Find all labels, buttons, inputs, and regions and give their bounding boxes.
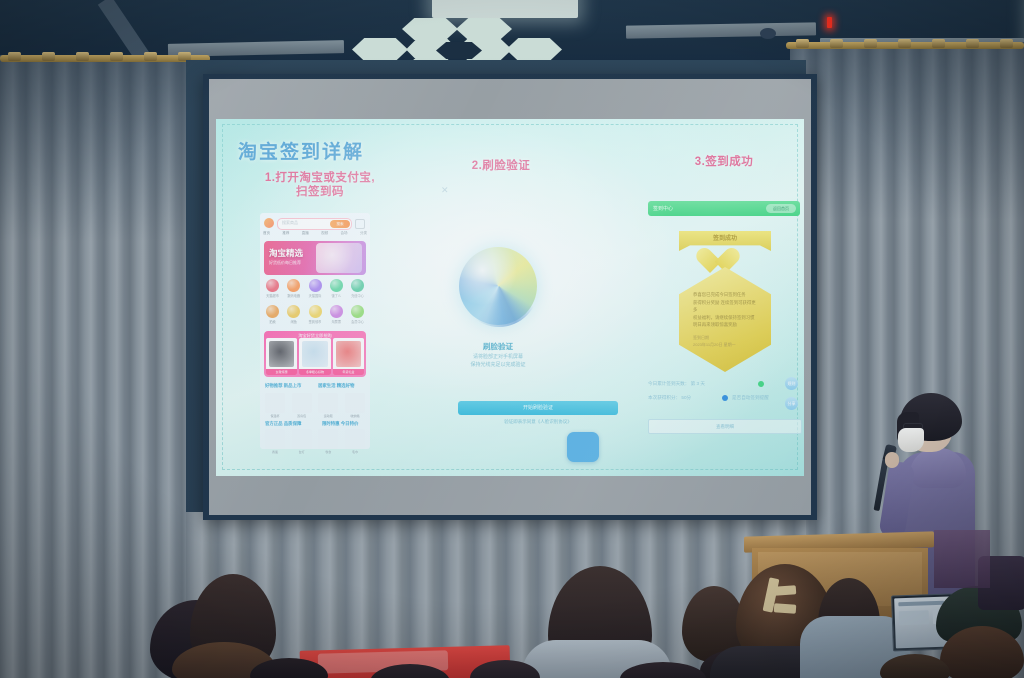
app-product-row-1: 保温杯双肩包运动鞋收纳箱 [264,393,366,418]
app-icon-cell[interactable]: 会员中心 [349,305,366,324]
ceiling-light-panel [432,0,578,18]
app-product-label: 毛巾 [344,450,366,454]
success-app-bar-label: 签到中心 [653,205,673,212]
projection-screen-surface: 淘宝签到详解 1.打开淘宝或支付宝, 扫签到码 搜索商品 搜索 [209,79,811,515]
pink-card-item-caption: 女靴特惠 [266,369,297,375]
pink-card-item[interactable]: 冬季暖心好物 [299,338,330,375]
pink-card-item-image [269,341,294,367]
app-icon-label: 天猫超市 [264,293,281,298]
app-search-input[interactable]: 搜索商品 搜索 [277,218,352,230]
app-icon-label: 会员中心 [349,319,366,324]
lecture-hall-photo: 淘宝签到详解 1.打开淘宝或支付宝, 扫签到码 搜索商品 搜索 [0,0,1024,678]
presenter-hood [910,448,966,488]
step-1-heading-text: 1.打开淘宝或支付宝, 扫签到码 [265,172,375,198]
pink-card-item-image [336,341,361,367]
slide-title: 淘宝签到详解 [238,137,364,164]
app-nav-item[interactable]: 视频 [321,231,328,238]
app-icon-row-2: 拍卖闲鱼签到领币淘票票会员中心 [264,305,366,324]
curtain-grommet [932,39,945,48]
face-verify-sub-2: 保持光线充足以完成验证 [423,361,573,369]
success-status-dot-1 [758,381,764,387]
curtain-grommet [76,52,89,61]
app-icon-label: 充值中心 [349,293,366,298]
step-2-heading-text: 2.刷脸验证 [472,160,531,172]
app-icon-label: 淘票票 [328,319,345,324]
app-section-head-1: 好物推荐 新品上市 [265,383,301,389]
app-product[interactable]: 台灯 [291,429,313,454]
app-product-label: 香薰 [264,450,286,454]
step-1-heading: 1.打开淘宝或支付宝, 扫签到码 [240,171,400,200]
audience-purple-shape [934,530,990,588]
app-product-image [345,393,365,413]
app-product-image [345,429,365,449]
success-detail-field[interactable]: 查看明细 [648,419,802,434]
ceiling-rail-right [626,22,816,38]
success-line-1: 今日累计签到天数： 第 3 天 [648,381,705,387]
success-app-bar-action-label: 返回首页 [766,204,796,213]
face-mask-icon [898,428,924,452]
step-3-heading-text: 3.签到成功 [695,156,754,168]
app-icon [287,305,300,318]
app-icon [330,305,343,318]
laptop-ui-line [898,601,944,607]
app-icon-cell[interactable]: 天猫国际 [307,279,324,298]
ceiling-petal [456,18,512,40]
app-icon [351,305,364,318]
app-section-head-3: 官方正品 品质保障 [265,421,301,427]
red-led-indicator-icon [827,17,832,28]
pink-card-item[interactable]: 年货礼盒 [333,338,364,375]
face-verify-subtitle: 请将脸部正对手机屏幕 保持光线充足以完成验证 [423,353,573,369]
app-search-row: 搜索商品 搜索 [264,217,366,229]
banner-title: 淘宝精选 [269,247,303,259]
curtain-grommet [110,52,123,61]
success-line-2: 本次获得积分： 50分 [648,395,691,401]
success-share-label: 分享 [785,397,798,410]
app-section-head-2: 居家生活 精选好物 [318,383,354,389]
curtain-grommet [42,52,55,61]
curtain-grommet [864,39,877,48]
app-icon [266,279,279,292]
app-icon-label: 数码电器 [285,293,302,298]
app-nav-item[interactable]: 分类 [360,231,367,238]
success-detail-label: 查看明细 [649,420,801,433]
app-pink-card[interactable]: 淘宝好货立即抢购 女靴特惠冬季暖心好物年货礼盒 [264,331,366,377]
app-icon-label: 签到领币 [307,319,324,324]
success-radio-selected[interactable] [722,395,728,401]
curtain-grommet [830,39,843,48]
app-product-row-2: 香薰台灯零食毛巾 [264,429,366,454]
app-nav-item[interactable]: 会场 [341,231,348,238]
success-badge-signature: 签到日期 2023年11月20日 星期一 [693,335,757,348]
step-2-heading: 2.刷脸验证 [426,159,576,173]
app-icon-label: 饿了么 [328,293,345,298]
app-product-label: 运动鞋 [317,414,339,418]
app-icon [309,279,322,292]
app-search-button-label: 搜索 [330,220,350,228]
curtain-grommet [966,39,979,48]
app-icon [309,305,322,318]
banner-subtitle: 好货低价每日推荐 [269,260,301,266]
app-product[interactable]: 双肩包 [291,393,313,418]
curtain-grommet [8,52,21,61]
app-product-label: 双肩包 [291,414,313,418]
app-icon-cell[interactable]: 数码电器 [285,279,302,298]
app-search-placeholder: 搜索商品 [282,220,298,226]
curtain-grommet [144,52,157,61]
curtain-left [0,55,206,678]
hair-clip-icon [774,603,797,614]
app-icon-row-1: 天猫超市数码电器天猫国际饿了么充值中心 [264,279,366,298]
projection-screen: 淘宝签到详解 1.打开淘宝或支付宝, 扫签到码 搜索商品 搜索 [203,74,817,520]
app-icon-cell[interactable]: 淘票票 [328,305,345,324]
success-share-button[interactable]: 分享 [785,397,798,410]
success-rule-button[interactable]: 规则 [785,377,798,390]
step-3-heading: 3.签到成功 [648,155,800,169]
curtain-grommet [898,39,911,48]
taobao-app-mockup: 搜索商品 搜索 首页推荐直播视频会场分类 淘宝精选 好货低价每日推荐 [260,213,370,449]
ceiling-sensor-icon [760,28,776,39]
face-verify-note: 验证即表示同意《人脸识别协议》 [458,419,618,425]
app-product[interactable]: 收纳箱 [344,393,366,418]
app-product-image [265,393,285,413]
app-product-image [318,393,338,413]
app-search-button[interactable]: 搜索 [330,220,350,228]
app-icon-cell[interactable]: 天猫超市 [264,279,281,298]
app-icon-label: 拍卖 [264,319,281,324]
start-face-verify-button[interactable]: 开始刷脸验证 [458,401,618,415]
pink-card-item-image [302,341,327,367]
app-icon [330,279,343,292]
app-product-image [292,429,312,449]
face-scan-globe-band-icon [459,245,539,327]
pink-card-items: 女靴特惠冬季暖心好物年货礼盒 [266,338,364,375]
app-product-image [292,393,312,413]
success-app-bar-action[interactable]: 返回首页 [766,204,796,213]
app-icon-cell[interactable]: 签到领币 [307,305,324,324]
face-verify-sub-1: 请将脸部正对手机屏幕 [423,353,573,361]
laptop-ui-block [899,610,929,625]
app-icon [351,279,364,292]
app-product-label: 保温杯 [264,414,286,418]
banner-figure-icon [316,243,362,273]
app-icon-label: 天猫国际 [307,293,324,298]
app-product[interactable]: 零食 [317,429,339,454]
app-product[interactable]: 香薰 [264,429,286,454]
app-avatar-icon [264,218,274,228]
curtain-grommet [1000,39,1013,48]
app-product-label: 收纳箱 [344,414,366,418]
app-icon [287,279,300,292]
ceiling-petal [352,38,408,61]
app-section-head-4: 限时特惠 今日特价 [322,421,358,427]
app-product-image [265,429,285,449]
app-product[interactable]: 运动鞋 [317,393,339,418]
app-product[interactable]: 保温杯 [264,393,286,418]
ceiling-petal [402,18,458,40]
start-face-verify-label: 开始刷脸验证 [458,401,618,415]
blue-rounded-square-icon [567,432,599,462]
app-camera-icon[interactable] [355,219,365,229]
success-rule-label: 规则 [785,377,798,390]
app-product-label: 零食 [317,450,339,454]
app-product[interactable]: 毛巾 [344,429,366,454]
hair-clip-icon [774,585,797,596]
app-product-label: 台灯 [291,450,313,454]
app-nav-row: 首页推荐直播视频会场分类 [263,231,367,238]
close-icon[interactable]: ✕ [441,185,449,196]
app-icon [266,305,279,318]
pink-card-item-caption: 冬季暖心好物 [299,369,330,375]
success-app-bar: 签到中心 返回首页 [648,201,800,216]
ceiling-petal [506,38,562,61]
presenter-hand [885,452,899,468]
slide-content: 淘宝签到详解 1.打开淘宝或支付宝, 扫签到码 搜索商品 搜索 [216,119,804,476]
pink-card-item-caption: 年货礼盒 [333,369,364,375]
face-verify-title: 刷脸验证 [423,341,573,352]
app-nav-item[interactable]: 推荐 [282,231,289,238]
app-icon-cell[interactable]: 闲鱼 [285,305,302,324]
success-line-3: 是否自动签到提醒 [732,395,769,401]
app-nav-item[interactable]: 直播 [302,231,309,238]
app-icon-cell[interactable]: 充值中心 [349,279,366,298]
success-ribbon-label: 签到成功 [679,231,771,247]
app-icon-cell[interactable]: 饿了么 [328,279,345,298]
pink-card-item[interactable]: 女靴特惠 [266,338,297,375]
app-nav-item[interactable]: 首页 [263,231,270,238]
app-icon-label: 闲鱼 [285,319,302,324]
app-icon-cell[interactable]: 拍卖 [264,305,281,324]
app-promo-banner[interactable]: 淘宝精选 好货低价每日推荐 [264,241,366,275]
success-badge-text: 恭喜您已完成今日签到任务 获得积分奖励 连续签到可获得更多 权益福利，请继续保持… [693,291,757,329]
app-product-image [318,429,338,449]
curtain-grommet [796,39,809,48]
